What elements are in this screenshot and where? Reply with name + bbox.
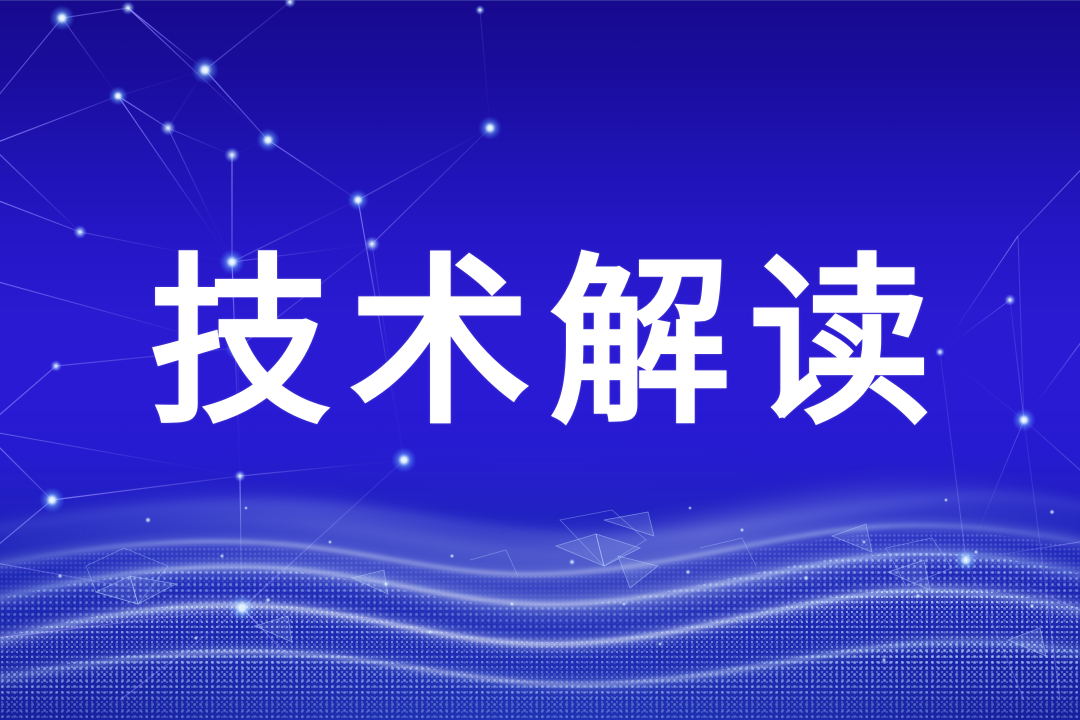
title-block: 技术解读 xyxy=(0,252,1080,434)
page-title: 技术解读 xyxy=(131,252,949,434)
tech-banner: 技术解读 xyxy=(0,0,1080,720)
